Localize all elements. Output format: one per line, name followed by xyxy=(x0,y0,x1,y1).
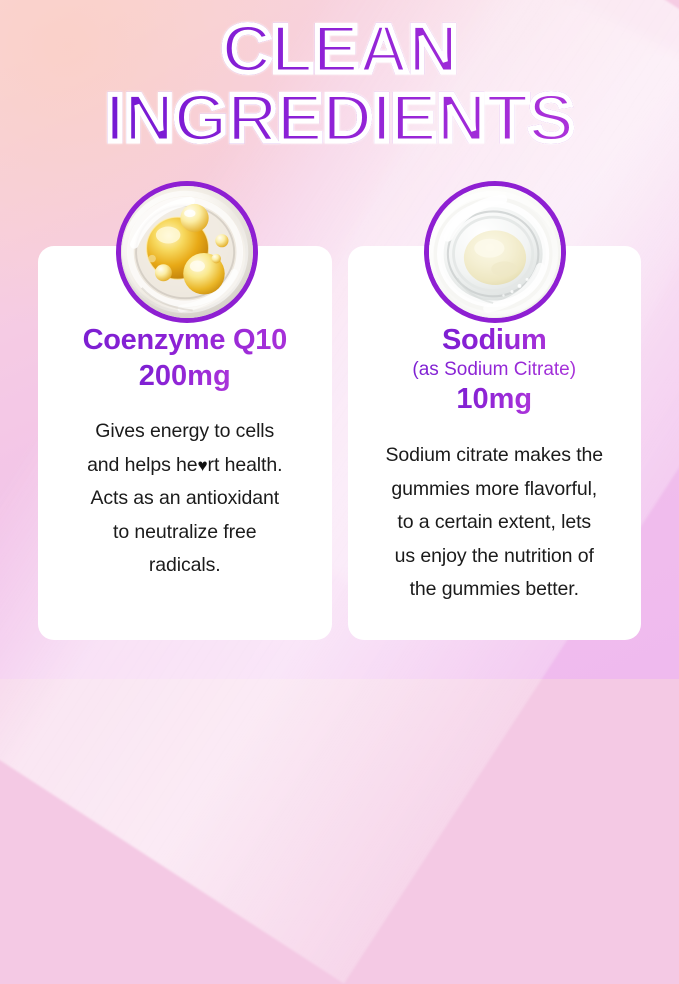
ingredient-title: Coenzyme Q10 xyxy=(83,324,287,358)
description-line: gummies more flavorful, xyxy=(385,473,603,507)
ingredient-description: Gives energy to cells and helps he♥rt he… xyxy=(87,415,282,583)
ingredient-dose: 10mg xyxy=(456,383,532,417)
description-line: us enjoy the nutrition of xyxy=(385,540,603,574)
description-line: to neutralize free xyxy=(87,516,282,550)
description-line: the gummies better. xyxy=(385,573,603,607)
page-title: CLEAN INGREDIENTS xyxy=(0,18,679,151)
description-line: radicals. xyxy=(87,549,282,583)
description-line: Gives energy to cells xyxy=(87,415,282,449)
oil-droplet-icon xyxy=(116,181,258,323)
ingredient-dose: 200mg xyxy=(139,360,231,394)
powder-dish-icon xyxy=(424,181,566,323)
ingredient-description: Sodium citrate makes the gummies more fl… xyxy=(385,439,603,607)
description-line: Acts as an antioxidant xyxy=(87,482,282,516)
description-line: to a certain extent, lets xyxy=(385,506,603,540)
description-line: Sodium citrate makes the xyxy=(385,439,603,473)
description-line: and helps he♥rt health. xyxy=(87,449,282,483)
ingredient-card-list: Coenzyme Q10 200mg Gives energy to cells… xyxy=(38,246,641,640)
page-title-line-2: INGREDIENTS xyxy=(0,87,679,151)
heart-icon: ♥ xyxy=(198,456,208,475)
page-title-line-1: CLEAN xyxy=(0,18,679,82)
ingredient-subtitle: (as Sodium Citrate) xyxy=(412,359,576,382)
ingredient-title: Sodium xyxy=(442,324,547,358)
